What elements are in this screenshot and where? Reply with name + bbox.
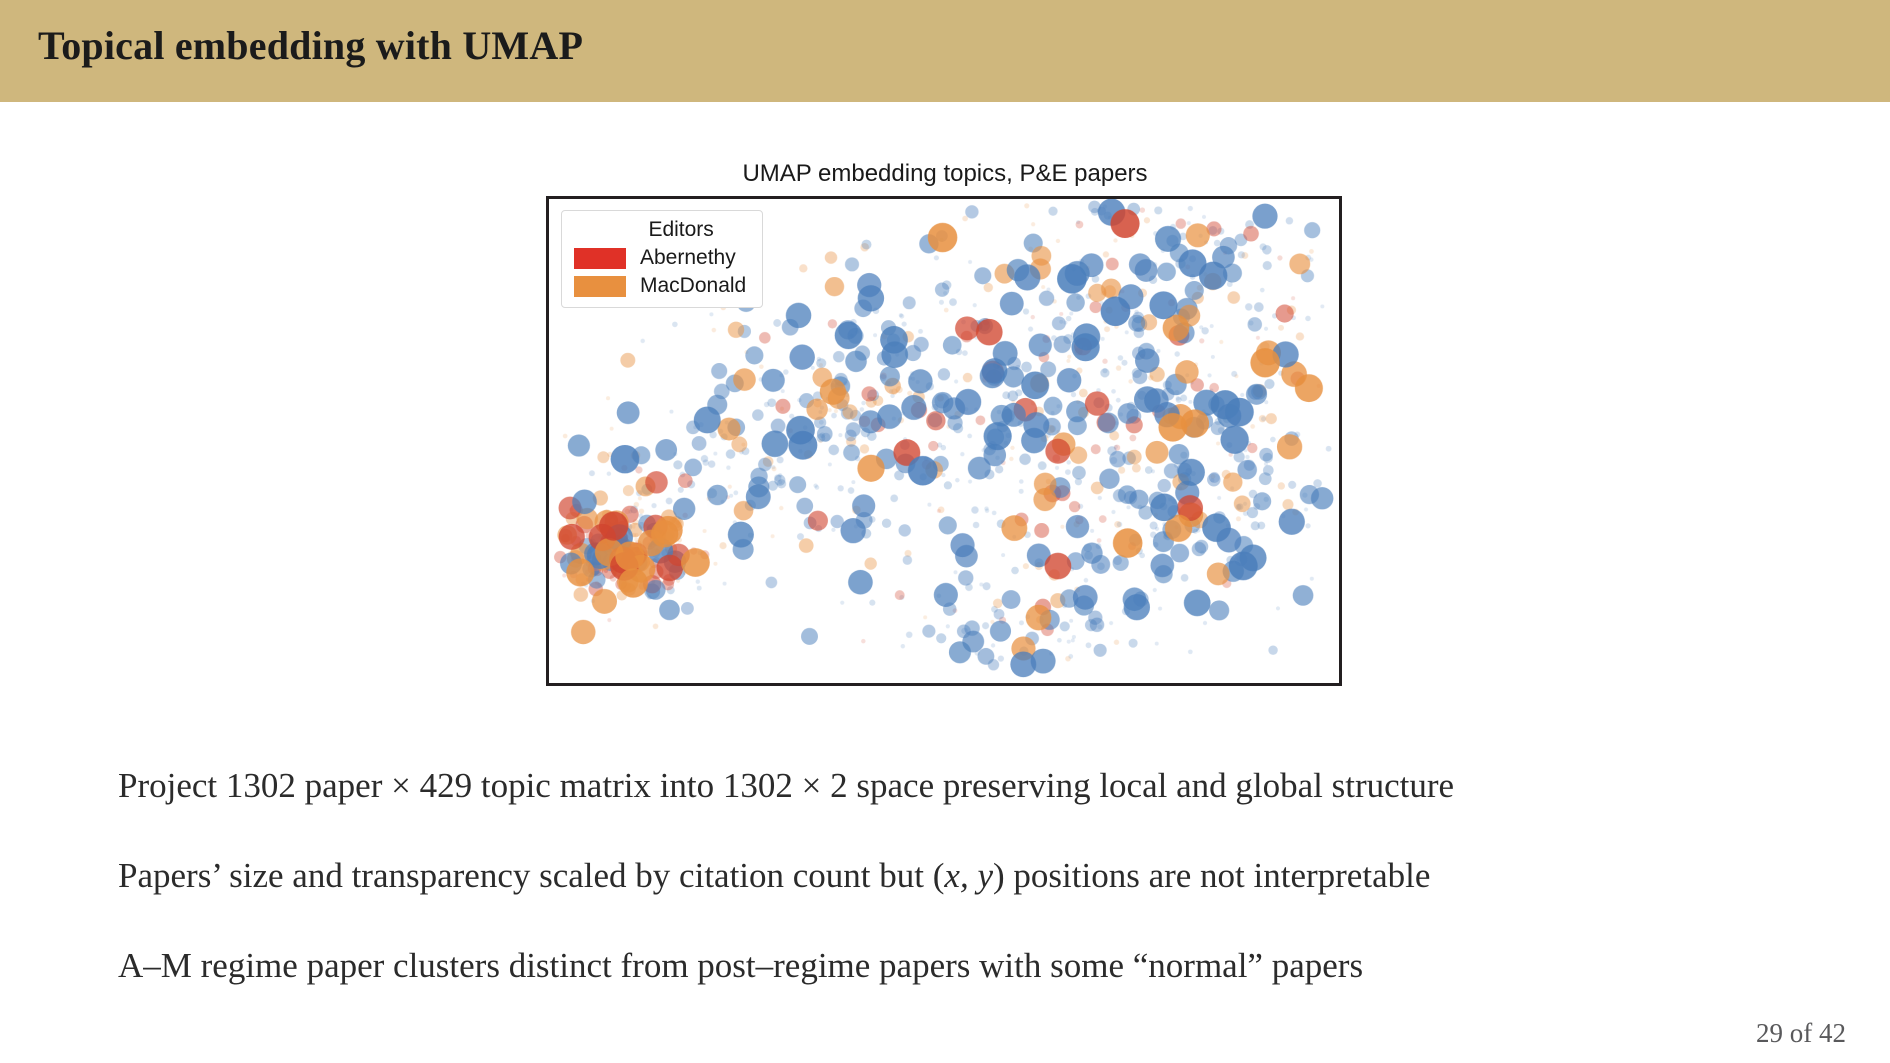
scatter-plot-frame: Editors Abernethy MacDonald <box>546 196 1342 686</box>
bullet-2-math-var: x, y <box>944 856 993 895</box>
legend: Editors Abernethy MacDonald <box>561 210 763 308</box>
legend-swatch-abernethy <box>574 248 626 269</box>
page-title: Topical embedding with UMAP <box>38 22 583 69</box>
legend-item-abernethy: Abernethy <box>574 246 746 270</box>
bullet-3-text: A–M regime paper clusters distinct from … <box>118 946 1363 985</box>
chart-title: UMAP embedding topics, P&E papers <box>546 160 1344 188</box>
bullet-2-text-pre: Papers’ size and transparency scaled by … <box>118 856 944 895</box>
legend-item-macdonald: MacDonald <box>574 274 746 298</box>
bullet-line-3: A–M regime paper clusters distinct from … <box>118 948 1758 983</box>
bullet-line-1: Project 1302 paper × 429 topic matrix in… <box>118 768 1758 803</box>
bullet-2-text-post: ) positions are not interpretable <box>993 856 1430 895</box>
legend-swatch-macdonald <box>574 276 626 297</box>
page-number: 29 of 42 <box>1756 1018 1846 1049</box>
legend-label-abernethy: Abernethy <box>640 246 736 270</box>
bullet-1-text: Project 1302 paper × 429 topic matrix in… <box>118 766 1454 805</box>
legend-title: Editors <box>574 218 746 242</box>
slide-header-banner: Topical embedding with UMAP <box>0 0 1890 102</box>
bullet-line-2: Papers’ size and transparency scaled by … <box>118 858 1758 893</box>
figure-container: UMAP embedding topics, P&E papers Editor… <box>546 160 1344 686</box>
legend-label-macdonald: MacDonald <box>640 274 746 298</box>
body-text-block: Project 1302 paper × 429 topic matrix in… <box>118 768 1758 1038</box>
